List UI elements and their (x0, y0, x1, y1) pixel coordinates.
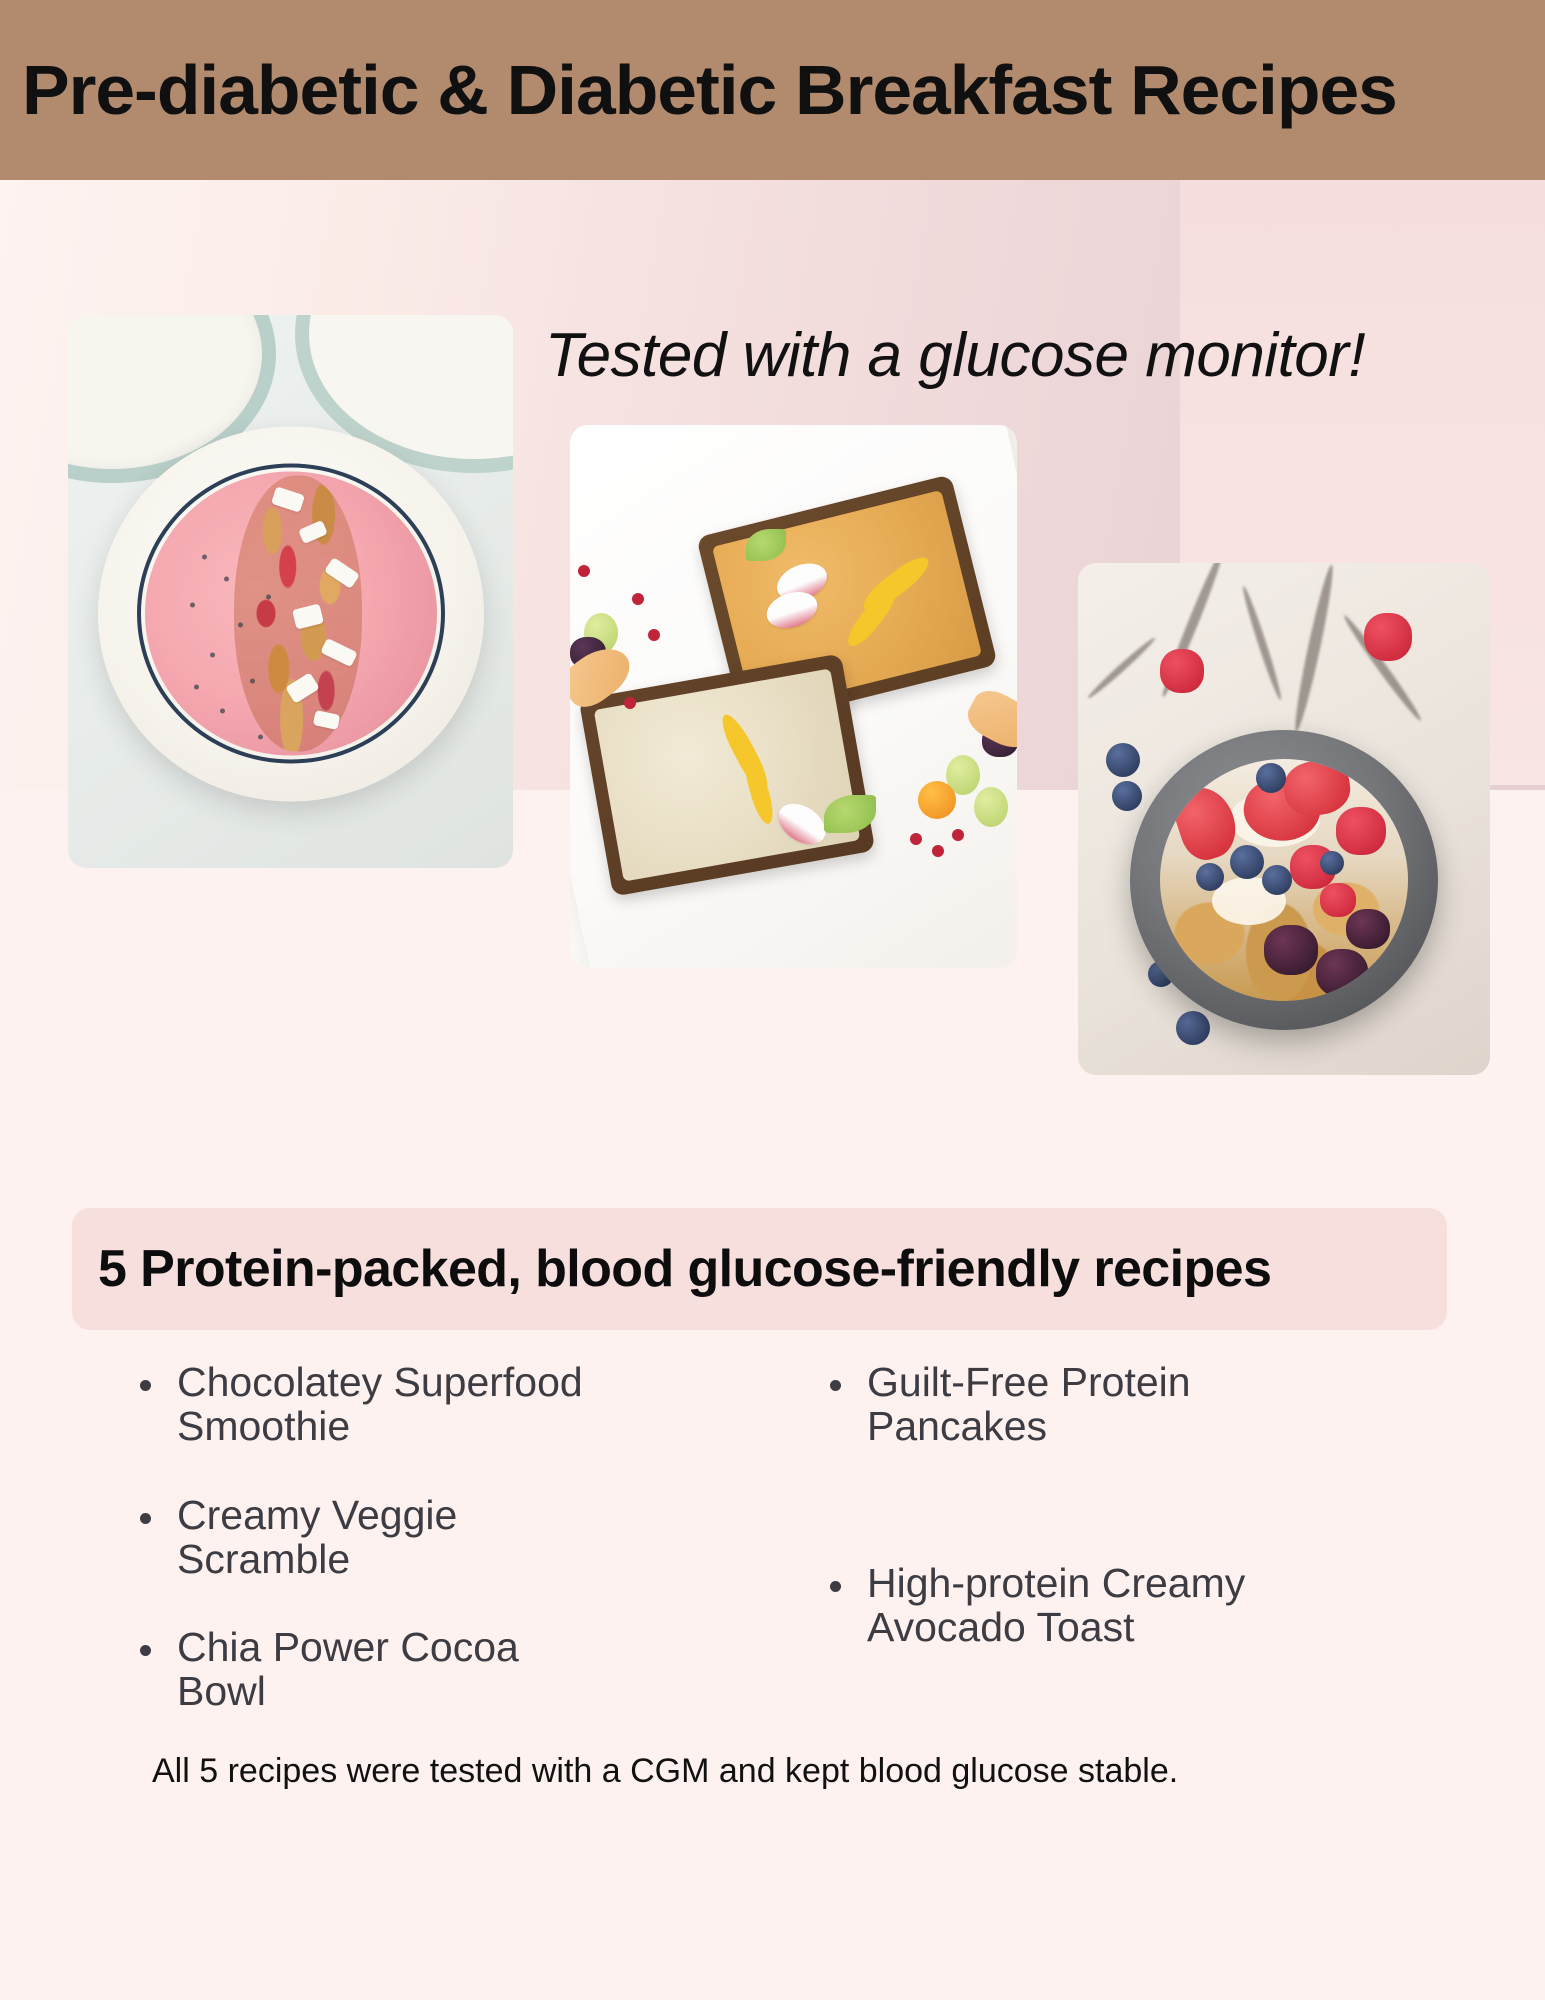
blackberry (1316, 949, 1368, 997)
header-banner: Pre-diabetic & Diabetic Breakfast Recipe… (0, 0, 1545, 180)
recipe-name: High-protein Creamy Avocado Toast (867, 1561, 1327, 1650)
chia-seed (210, 652, 215, 657)
raspberry (1336, 807, 1386, 855)
blueberry (1106, 743, 1140, 777)
chia-seed (258, 734, 263, 739)
recipe-name: Chocolatey Superfood Smoothie (177, 1360, 597, 1449)
chia-seed (194, 684, 199, 689)
bullet-dot-icon (140, 1513, 151, 1524)
chia-seed (220, 708, 225, 713)
blueberry (1176, 1011, 1210, 1045)
chia-seed (250, 678, 255, 683)
blueberry (1256, 763, 1286, 793)
recipe-name: Chia Power Cocoa Bowl (177, 1625, 597, 1714)
granola-bowl (1130, 730, 1438, 1030)
recipe-list-left-column: Chocolatey Superfood Smoothie Creamy Veg… (140, 1360, 770, 1758)
pomegranate-seed (578, 565, 590, 577)
footnote-text: All 5 recipes were tested with a CGM and… (152, 1752, 1178, 1791)
blackberry (1264, 925, 1318, 975)
granola-bowl-contents (1160, 759, 1408, 1001)
list-item: Guilt-Free Protein Pancakes (830, 1360, 1460, 1449)
green-grape (974, 787, 1008, 827)
smoothie-bowl (98, 426, 484, 801)
bullet-dot-icon (140, 1380, 151, 1391)
chia-seed (266, 594, 271, 599)
pomegranate-seed (624, 697, 636, 709)
raspberry (1364, 613, 1412, 661)
photo-pink-smoothie-bowl (68, 315, 513, 868)
recipe-name: Guilt-Free Protein Pancakes (867, 1360, 1327, 1449)
tagline-text: Tested with a glucose monitor! (545, 320, 1365, 391)
bullet-dot-icon (830, 1581, 841, 1592)
list-item: High-protein Creamy Avocado Toast (830, 1561, 1460, 1650)
blueberry (1196, 863, 1224, 891)
pomegranate-seed (648, 629, 660, 641)
raspberry (1160, 649, 1204, 693)
blueberry (1112, 781, 1142, 811)
pomegranate-seed (632, 593, 644, 605)
list-item: Chocolatey Superfood Smoothie (140, 1360, 770, 1449)
blueberry (1320, 851, 1344, 875)
highlight-text: 5 Protein-packed, blood glucose-friendly… (98, 1239, 1271, 1299)
highlight-banner: 5 Protein-packed, blood glucose-friendly… (72, 1208, 1447, 1330)
list-item: Chia Power Cocoa Bowl (140, 1625, 770, 1714)
bullet-dot-icon (830, 1380, 841, 1391)
chia-seed (224, 576, 229, 581)
list-item: Creamy Veggie Scramble (140, 1493, 770, 1582)
recipe-lists: Chocolatey Superfood Smoothie Creamy Veg… (140, 1360, 1470, 1758)
physalis-fruit (918, 781, 956, 819)
chia-seed (202, 554, 207, 559)
pomegranate-seed (910, 833, 922, 845)
recipe-name: Creamy Veggie Scramble (177, 1493, 597, 1582)
pomegranate-seed (952, 829, 964, 841)
blackberry (1346, 909, 1390, 949)
blueberry (1230, 845, 1264, 879)
page-title: Pre-diabetic & Diabetic Breakfast Recipe… (22, 50, 1397, 130)
recipe-list-right-column: Guilt-Free Protein Pancakes High-protein… (830, 1360, 1460, 1758)
chia-seed (238, 622, 243, 627)
pomegranate-seed (932, 845, 944, 857)
blueberry (1262, 865, 1292, 895)
raspberry (1320, 883, 1356, 917)
bullet-dot-icon (140, 1645, 151, 1656)
photo-rye-toast-plate (570, 425, 1017, 968)
photo-granola-berry-bowl (1078, 563, 1490, 1075)
chia-seed (190, 602, 195, 607)
